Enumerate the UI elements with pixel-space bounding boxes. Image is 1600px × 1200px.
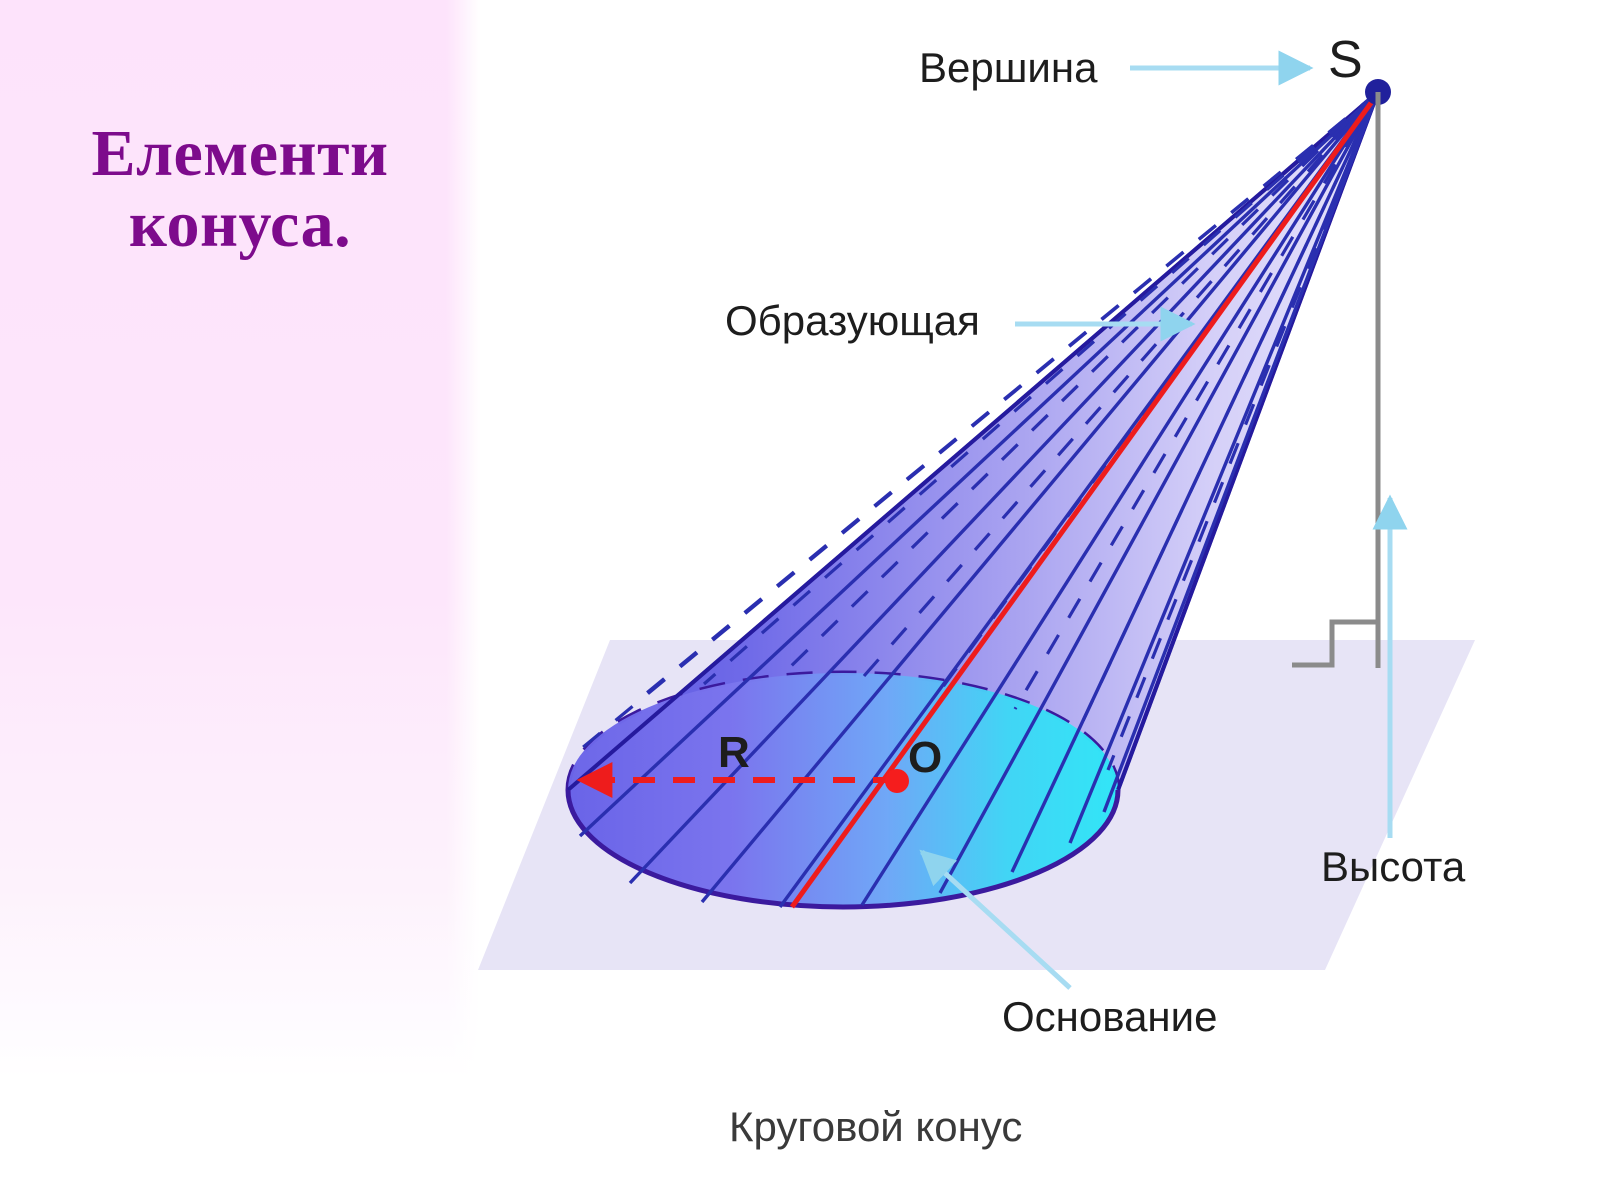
diagram-caption: Круговой конус (729, 1103, 1022, 1151)
label-radius: R (718, 728, 750, 778)
label-apex: Вершина (919, 44, 1097, 92)
label-height: Высота (1321, 843, 1465, 891)
label-generatrix: Образующая (725, 297, 980, 345)
title-line-2: конуса. (0, 189, 480, 260)
cone-diagram: Вершина S Образующая Высота Основание R … (470, 0, 1600, 1200)
label-apex-symbol: S (1328, 30, 1363, 90)
slide-canvas: Елементи конуса. (0, 0, 1600, 1200)
center-point-marker (885, 769, 909, 793)
page-title: Елементи конуса. (0, 118, 480, 261)
title-panel: Елементи конуса. (0, 0, 480, 1078)
label-center: O (908, 733, 942, 783)
label-base: Основание (1002, 993, 1217, 1041)
title-line-1: Елементи (91, 117, 388, 190)
